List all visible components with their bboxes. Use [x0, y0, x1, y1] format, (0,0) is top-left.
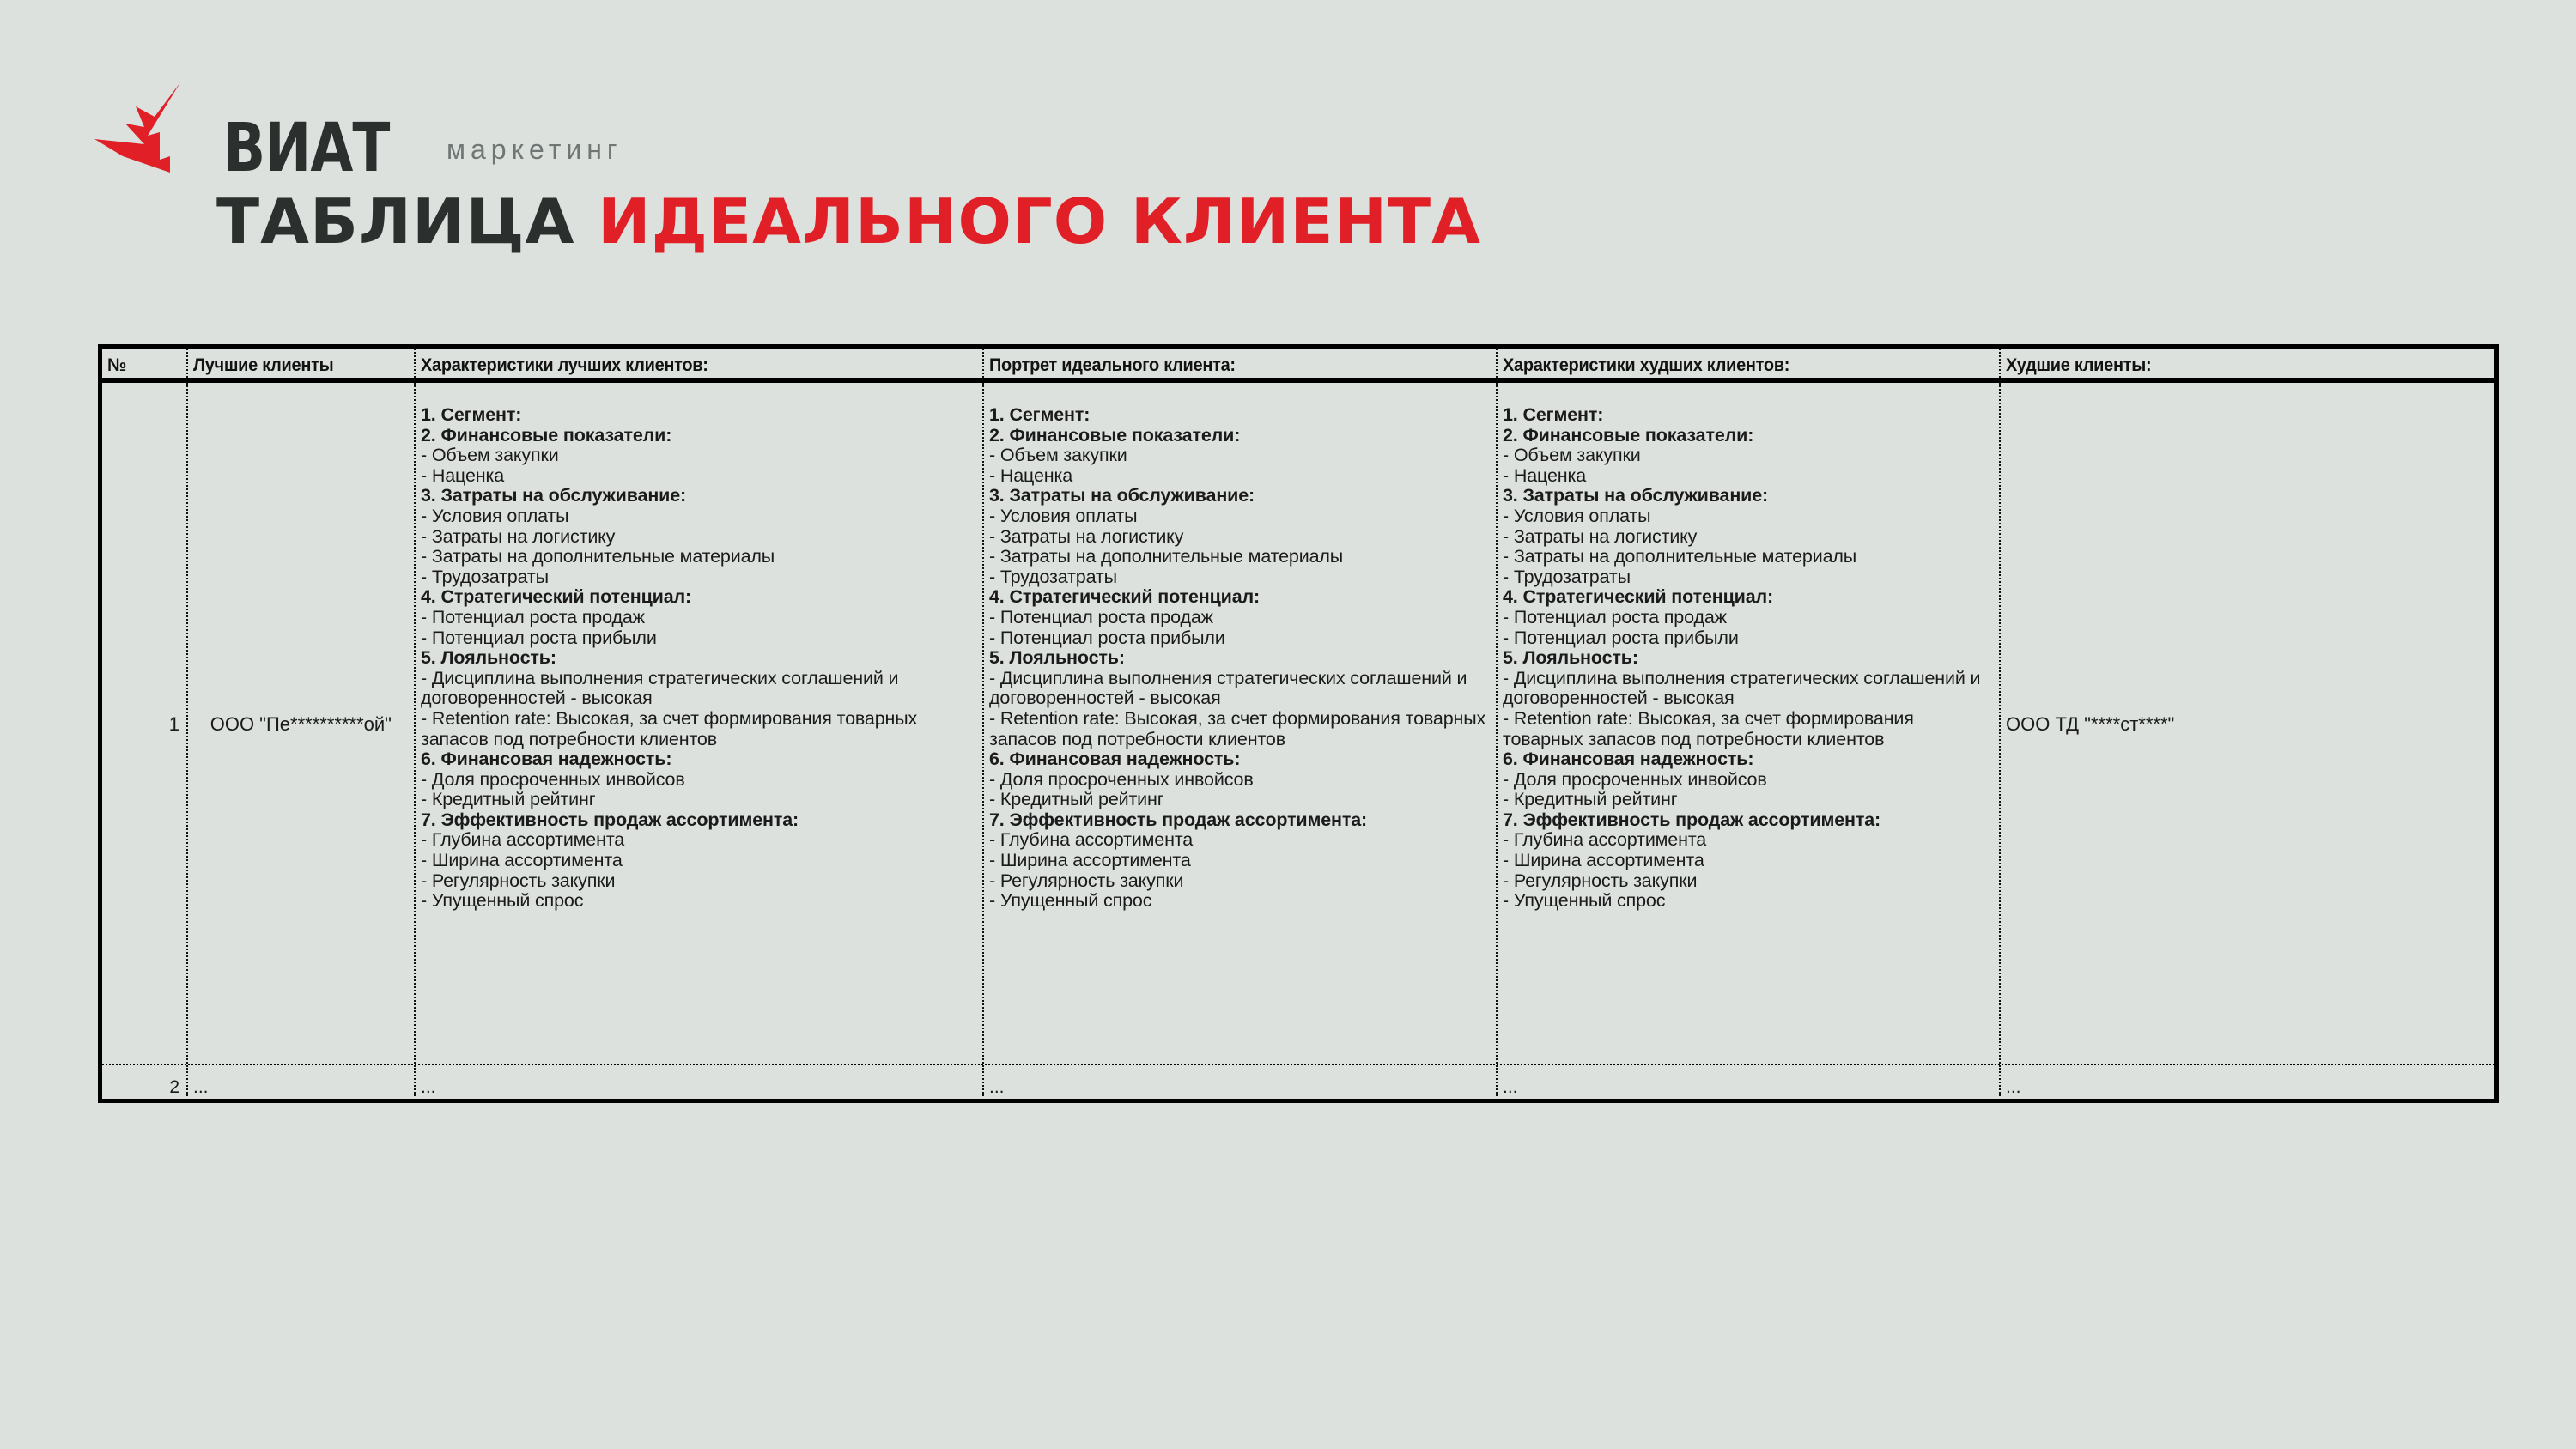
list-item: - Дисциплина выполнения стратегических с…	[989, 669, 1492, 709]
list-item: 4. Стратегический потенциал:	[1503, 587, 1996, 608]
table-row: 1 ООО "Пе**********ой" 1. Сегмент:2. Фин…	[102, 383, 2494, 1065]
table-header-row: № Лучшие клиенты Характеристики лучших к…	[102, 349, 2494, 383]
list-item: - Потенциал роста прибыли	[989, 628, 1492, 649]
header-label-ideal-portrait: Портрет идеального клиента:	[989, 349, 1236, 378]
list-item: 1. Сегмент:	[1503, 405, 1996, 426]
header-cell-best-characteristics: Характеристики лучших клиентов:	[414, 349, 982, 378]
best-client-name: ...	[193, 1065, 410, 1096]
page-title-dark: ТАБЛИЦА	[216, 185, 574, 258]
table-row: 2 ... ... ... ... ...	[102, 1065, 2494, 1096]
worst-characteristics-list: 1. Сегмент:2. Финансовые показатели:- Об…	[1503, 383, 1996, 912]
list-item: - Трудозатраты	[421, 567, 979, 588]
list-item: - Ширина ассортимента	[989, 851, 1492, 871]
list-item: - Потенциал роста прибыли	[421, 628, 979, 649]
list-item: 3. Затраты на обслуживание:	[421, 486, 979, 506]
row-cell-best-client: ООО "Пе**********ой"	[186, 383, 414, 1064]
page-title-red: ИДЕАЛЬНОГО КЛИЕНТА	[598, 185, 1481, 258]
best-client-name: ООО "Пе**********ой"	[193, 383, 410, 1064]
row-cell-worst-client: ООО ТД "****ст****"	[1999, 383, 2494, 1064]
list-item: - Потенциал роста продаж	[1503, 608, 1996, 628]
worst-client-placeholder: ...	[2006, 1065, 2491, 1096]
header-cell-num: №	[102, 349, 186, 378]
list-item: - Условия оплаты	[1503, 506, 1996, 527]
list-item: 6. Финансовая надежность:	[421, 749, 979, 770]
list-item: - Трудозатраты	[1503, 567, 1996, 588]
list-item: - Регулярность закупки	[989, 871, 1492, 892]
list-item: - Регулярность закупки	[421, 871, 979, 892]
row-cell-num: 1	[102, 383, 186, 1064]
list-item: 3. Затраты на обслуживание:	[989, 486, 1492, 506]
row-index: 2	[107, 1065, 183, 1096]
list-item: - Объем закупки	[1503, 446, 1996, 466]
row-cell-best-characteristics: 1. Сегмент:2. Финансовые показатели:- Об…	[414, 383, 982, 1064]
list-item: - Затраты на логистику	[1503, 527, 1996, 548]
row-index: 1	[107, 383, 183, 1064]
list-item: - Глубина ассортимента	[421, 830, 979, 851]
list-item: - Дисциплина выполнения стратегических с…	[421, 669, 979, 709]
row-cell-ideal-portrait: 1. Сегмент:2. Финансовые показатели:- Об…	[982, 383, 1496, 1064]
list-item: 7. Эффективность продаж ассортимента:	[421, 810, 979, 831]
list-item: 1. Сегмент:	[989, 405, 1492, 426]
row-cell-worst-characteristics: 1. Сегмент:2. Финансовые показатели:- Об…	[1496, 383, 1999, 1064]
header-cell-worst-characteristics: Характеристики худших клиентов:	[1496, 349, 1999, 378]
list-item: - Упущенный спрос	[421, 891, 979, 912]
list-item: - Retention rate: Высокая, за счет форми…	[989, 709, 1492, 749]
list-item: 3. Затраты на обслуживание:	[1503, 486, 1996, 506]
list-item: - Потенциал роста прибыли	[1503, 628, 1996, 649]
list-item: - Упущенный спрос	[989, 891, 1492, 912]
list-item: - Объем закупки	[421, 446, 979, 466]
logo-tagline: маркетинг	[447, 136, 623, 163]
list-item: - Регулярность закупки	[1503, 871, 1996, 892]
list-item: - Трудозатраты	[989, 567, 1492, 588]
list-item: 2. Финансовые показатели:	[989, 426, 1492, 446]
header-label-best-clients: Лучшие клиенты	[193, 349, 333, 378]
header-label-num: №	[107, 349, 126, 378]
header-cell-worst-clients: Худшие клиенты:	[1999, 349, 2494, 378]
list-item: - Условия оплаты	[989, 506, 1492, 527]
logo-wordmark: ВИАТ	[223, 115, 390, 182]
list-item: 5. Лояльность:	[1503, 648, 1996, 669]
list-item: - Глубина ассортимента	[1503, 830, 1996, 851]
list-item: - Глубина ассортимента	[989, 830, 1492, 851]
row-cell-worst-characteristics: ...	[1496, 1065, 1999, 1096]
list-item: - Затраты на дополнительные материалы	[989, 547, 1492, 567]
list-item: - Retention rate: Высокая, за счет форми…	[1503, 709, 1996, 749]
list-item: - Доля просроченных инвойсов	[989, 770, 1492, 791]
list-item: - Потенциал роста продаж	[989, 608, 1492, 628]
list-item: - Retention rate: Высокая, за счет форми…	[421, 709, 979, 749]
header-label-worst-characteristics: Характеристики худших клиентов:	[1503, 349, 1789, 378]
list-item: 4. Стратегический потенциал:	[421, 587, 979, 608]
ideal-client-table: № Лучшие клиенты Характеристики лучших к…	[98, 344, 2499, 1103]
list-item: - Ширина ассортимента	[421, 851, 979, 871]
best-characteristics-placeholder: ...	[421, 1065, 979, 1096]
list-item: - Упущенный спрос	[1503, 891, 1996, 912]
header-label-best-characteristics: Характеристики лучших клиентов:	[421, 349, 708, 378]
list-item: - Наценка	[421, 466, 979, 487]
list-item: - Кредитный рейтинг	[421, 790, 979, 810]
list-item: 5. Лояльность:	[989, 648, 1492, 669]
list-item: 7. Эффективность продаж ассортимента:	[1503, 810, 1996, 831]
header-cell-ideal-portrait: Портрет идеального клиента:	[982, 349, 1496, 378]
worst-characteristics-placeholder: ...	[1503, 1065, 1996, 1096]
header-cell-best-clients: Лучшие клиенты	[186, 349, 414, 378]
list-item: - Доля просроченных инвойсов	[421, 770, 979, 791]
list-item: 6. Финансовая надежность:	[989, 749, 1492, 770]
row-cell-best-client: ...	[186, 1065, 414, 1096]
best-characteristics-list: 1. Сегмент:2. Финансовые показатели:- Об…	[421, 383, 979, 912]
list-item: - Затраты на логистику	[421, 527, 979, 548]
list-item: - Затраты на дополнительные материалы	[1503, 547, 1996, 567]
list-item: 4. Стратегический потенциал:	[989, 587, 1492, 608]
list-item: - Кредитный рейтинг	[1503, 790, 1996, 810]
brand-logo: ВИАТ маркетинг	[94, 82, 627, 185]
list-item: - Дисциплина выполнения стратегических с…	[1503, 669, 1996, 709]
list-item: 6. Финансовая надежность:	[1503, 749, 1996, 770]
ideal-portrait-list: 1. Сегмент:2. Финансовые показатели:- Об…	[989, 383, 1492, 912]
list-item: - Наценка	[989, 466, 1492, 487]
list-item: 5. Лояльность:	[421, 648, 979, 669]
list-item: - Затраты на логистику	[989, 527, 1492, 548]
list-item: 7. Эффективность продаж ассортимента:	[989, 810, 1492, 831]
page-title: ТАБЛИЦА ИДЕАЛЬНОГО КЛИЕНТА	[216, 191, 1481, 252]
list-item: - Потенциал роста продаж	[421, 608, 979, 628]
list-item: - Кредитный рейтинг	[989, 790, 1492, 810]
list-item: - Наценка	[1503, 466, 1996, 487]
list-item: 2. Финансовые показатели:	[1503, 426, 1996, 446]
list-item: - Затраты на дополнительные материалы	[421, 547, 979, 567]
list-item: - Объем закупки	[989, 446, 1492, 466]
row-cell-best-characteristics: ...	[414, 1065, 982, 1096]
list-item: - Условия оплаты	[421, 506, 979, 527]
header-label-worst-clients: Худшие клиенты:	[2006, 349, 2151, 378]
red-arrow-icon	[94, 82, 223, 181]
row-cell-ideal-portrait: ...	[982, 1065, 1496, 1096]
ideal-portrait-placeholder: ...	[989, 1065, 1492, 1096]
list-item: 2. Финансовые показатели:	[421, 426, 979, 446]
row-cell-worst-client: ...	[1999, 1065, 2494, 1096]
worst-client-name: ООО ТД "****ст****"	[2006, 713, 2174, 735]
list-item: - Ширина ассортимента	[1503, 851, 1996, 871]
list-item: - Доля просроченных инвойсов	[1503, 770, 1996, 791]
row-cell-num: 2	[102, 1065, 186, 1096]
list-item: 1. Сегмент:	[421, 405, 979, 426]
